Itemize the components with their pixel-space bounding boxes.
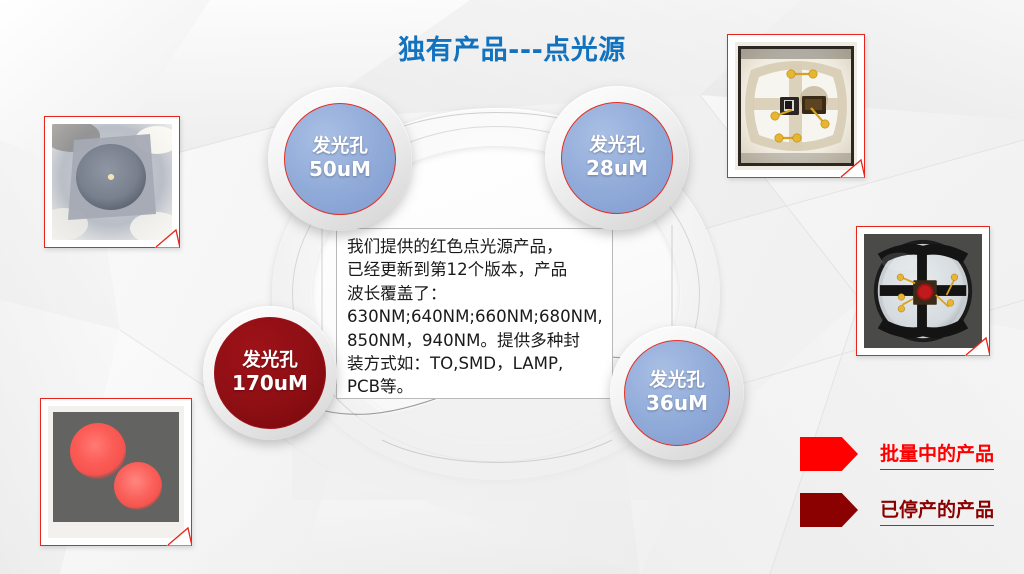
bubble-170um[interactable]: 发光孔 170uM: [203, 306, 337, 440]
bubble-36um[interactable]: 发光孔 36uM: [610, 326, 744, 460]
bubble-170um-disc: 发光孔 170uM: [214, 317, 326, 429]
bubble-50um-disc: 发光孔 50uM: [284, 103, 396, 215]
bubble-36um-label: 发光孔: [649, 371, 705, 392]
legend-arrow-discontinued-icon: [800, 493, 858, 527]
description-textbox: 我们提供的红色点光源产品， 已经更新到第12个版本，产品 波长覆盖了： 630N…: [336, 228, 613, 399]
legend-arrow-in-production-icon: [800, 437, 858, 471]
bubble-36um-value: 36uM: [646, 392, 708, 414]
legend-item-discontinued[interactable]: 已停产的产品: [800, 493, 994, 527]
legend-item-in-production[interactable]: 批量中的产品: [800, 437, 994, 471]
photo-to-can-emitter: [856, 226, 990, 356]
bubble-28um-value: 28uM: [586, 157, 648, 179]
bubble-28um-disc: 发光孔 28uM: [561, 102, 673, 214]
photo-smd-package: [727, 34, 865, 178]
bubble-50um-value: 50uM: [309, 158, 371, 180]
bubble-28um-label: 发光孔: [589, 136, 645, 157]
bubble-170um-label: 发光孔: [242, 351, 298, 372]
photo-to-can-emitter-image: [864, 234, 982, 348]
bubble-28um[interactable]: 发光孔 28uM: [545, 86, 689, 230]
photo-chip-dark-circle: [44, 116, 180, 248]
photo-red-emission: [40, 398, 192, 546]
bubble-170um-value: 170uM: [232, 372, 308, 394]
legend-label-in-production: 批量中的产品: [880, 439, 994, 470]
photo-smd-package-image: [735, 42, 857, 170]
photo-chip-dark-circle-image: [52, 124, 172, 240]
bubble-50um[interactable]: 发光孔 50uM: [268, 87, 412, 231]
legend-label-discontinued: 已停产的产品: [880, 495, 994, 526]
photo-red-emission-image: [48, 406, 184, 538]
slide-canvas: 独有产品---点光源 我们提供的红色点光源产品， 已经更新到第12个版本，产品 …: [0, 0, 1024, 574]
bubble-36um-disc: 发光孔 36uM: [624, 340, 730, 446]
bubble-50um-label: 发光孔: [312, 137, 368, 158]
page-title: 独有产品---点光源: [0, 28, 1024, 67]
